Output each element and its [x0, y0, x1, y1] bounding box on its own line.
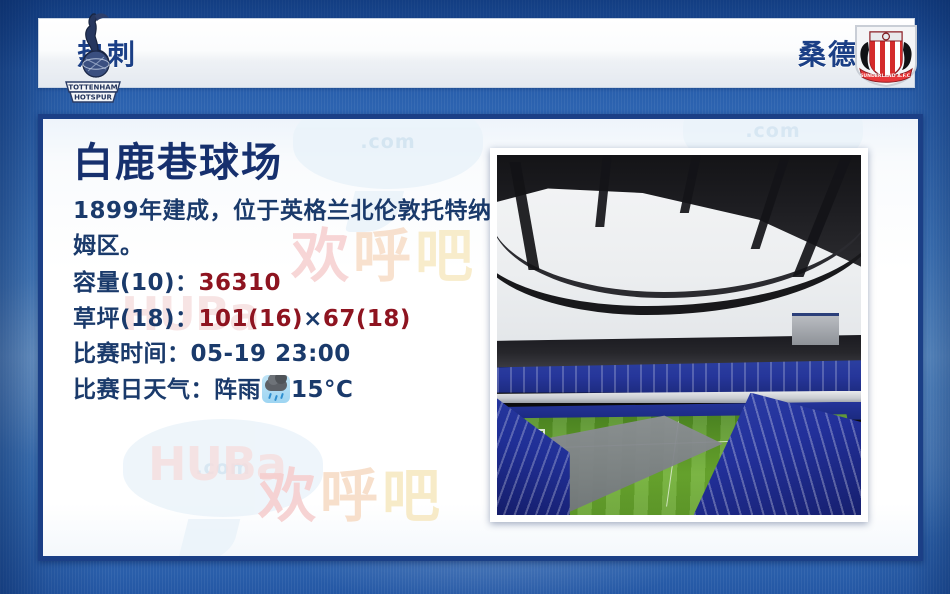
watermark-huba-2: HUBa — [148, 437, 286, 491]
capacity-value: 36310 — [199, 270, 282, 296]
stadium-photo — [497, 155, 861, 515]
stadium-title: 白鹿巷球场 — [73, 141, 503, 186]
watermark-bubble-bottom: .com — [123, 419, 323, 544]
crest-banner-text: SUNDERLAND A.F.C. — [860, 73, 912, 79]
content-panel: .com .com .com HUBa HUBa HUBa 欢呼吧 欢呼吧 白鹿… — [38, 114, 923, 561]
crest-banner-top-text: TOTTENHAM — [68, 84, 117, 92]
stadium-info-block: 白鹿巷球场 1899年建成，位于英格兰北伦敦托特纳姆区。 容量(10)：3631… — [73, 141, 503, 409]
watermark-cn-char-4: 欢 — [258, 462, 320, 530]
slide-root: 热刺 桑德兰 TOTTENHAM HOTSPUR — [0, 0, 950, 594]
match-time-value: 05-19 23:00 — [191, 341, 351, 367]
weather-condition: 阵雨 — [214, 377, 261, 403]
watermark-cn-bottom: 欢呼吧 — [258, 449, 444, 533]
stadium-description: 1899年建成，位于英格兰北伦敦托特纳姆区。 — [73, 194, 503, 264]
rain-shower-icon — [262, 375, 290, 403]
capacity-label: 容量(10)： — [73, 270, 199, 296]
weather-temperature: 15°C — [291, 377, 353, 403]
watermark-cn-char-5: 呼 — [320, 462, 382, 530]
weather-label: 比赛日天气： — [73, 377, 214, 403]
stadium-photo-frame — [490, 148, 868, 522]
away-team-block: 桑德兰 — [477, 33, 915, 73]
match-header-bar: 热刺 桑德兰 — [38, 18, 915, 88]
capacity-row: 容量(10)：36310 — [73, 266, 503, 302]
watermark-cn-char-6: 吧 — [382, 462, 444, 530]
tottenham-hotspur-crest-icon: TOTTENHAM HOTSPUR — [62, 10, 124, 106]
weather-row: 比赛日天气：阵雨15°C — [73, 373, 503, 409]
pitch-label: 草坪(18)： — [73, 306, 199, 332]
sunderland-afc-crest-icon: SUNDERLAND A.F.C. — [850, 20, 922, 88]
crest-banner-bottom-text: HOTSPUR — [74, 94, 112, 102]
watermark-bubble-text-2: .com — [683, 120, 863, 142]
match-time-row: 比赛时间：05-19 23:00 — [73, 337, 503, 373]
pitch-row: 草坪(18)：101(16)×67(18) — [73, 302, 503, 338]
watermark-bubble-text-3: .com — [123, 457, 323, 479]
pitch-width-value: 67(18) — [323, 306, 411, 332]
match-time-label: 比赛时间： — [73, 341, 191, 367]
pitch-length-value: 101(16) — [199, 306, 304, 332]
pitch-times-sign: × — [303, 306, 323, 332]
